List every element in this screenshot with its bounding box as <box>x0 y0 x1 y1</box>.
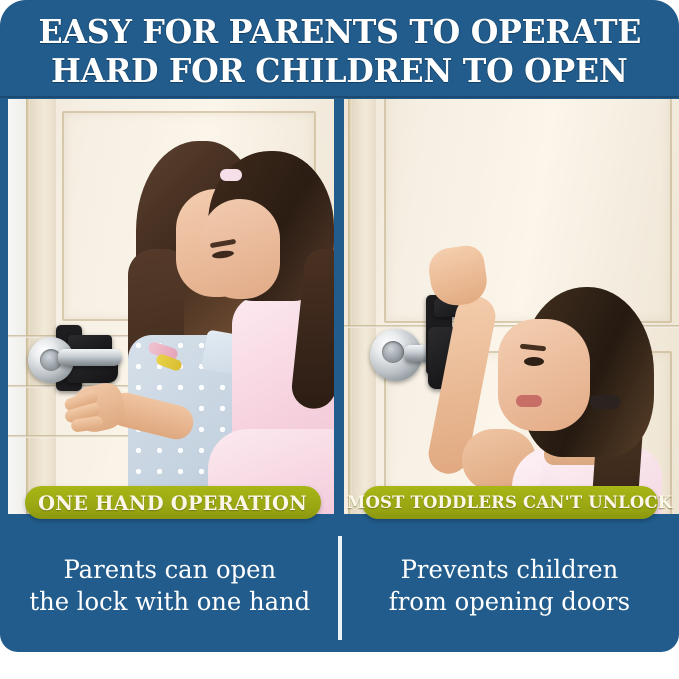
child-eye <box>524 357 544 366</box>
right-photo-panel <box>344 99 679 514</box>
left-caption-line-1: Parents can open <box>63 555 276 584</box>
left-caption-line-2: the lock with one hand <box>29 587 310 616</box>
photo-panels <box>0 99 679 514</box>
right-badge-label: MOST TODDLERS CAN'T UNLOCK <box>347 493 672 513</box>
poster-headline: EASY FOR PARENTS TO OPERATE HARD FOR CHI… <box>0 8 679 94</box>
daughter-face <box>202 199 280 299</box>
child-face <box>498 319 590 431</box>
right-badge: MOST TODDLERS CAN'T UNLOCK <box>362 486 658 519</box>
right-caption-text: Prevents children from opening doors <box>389 554 630 618</box>
door-inset-panel-upper <box>384 99 672 323</box>
headline-line-2: HARD FOR CHILDREN TO OPEN <box>51 51 627 90</box>
right-caption: Prevents children from opening doors <box>340 530 679 642</box>
right-caption-line-2: from opening doors <box>389 587 630 616</box>
caption-divider <box>338 536 342 640</box>
daughter-hair-tie <box>220 169 242 181</box>
door-stile <box>352 99 376 514</box>
left-badge-label: ONE HAND OPERATION <box>39 491 308 515</box>
left-badge: ONE HAND OPERATION <box>25 486 321 519</box>
right-caption-line-1: Prevents children <box>400 555 618 584</box>
door-stile <box>30 99 56 514</box>
left-caption-text: Parents can open the lock with one hand <box>29 554 310 618</box>
wall-strip <box>8 99 26 514</box>
left-photo-panel <box>8 99 334 514</box>
headline-line-1: EASY FOR PARENTS TO OPERATE <box>38 12 641 51</box>
product-feature-poster: EASY FOR PARENTS TO OPERATE HARD FOR CHI… <box>0 0 679 679</box>
lever-arm <box>58 349 122 366</box>
child-hair-tie <box>590 395 620 409</box>
child-mouth <box>516 395 542 407</box>
left-caption: Parents can open the lock with one hand <box>0 530 340 642</box>
